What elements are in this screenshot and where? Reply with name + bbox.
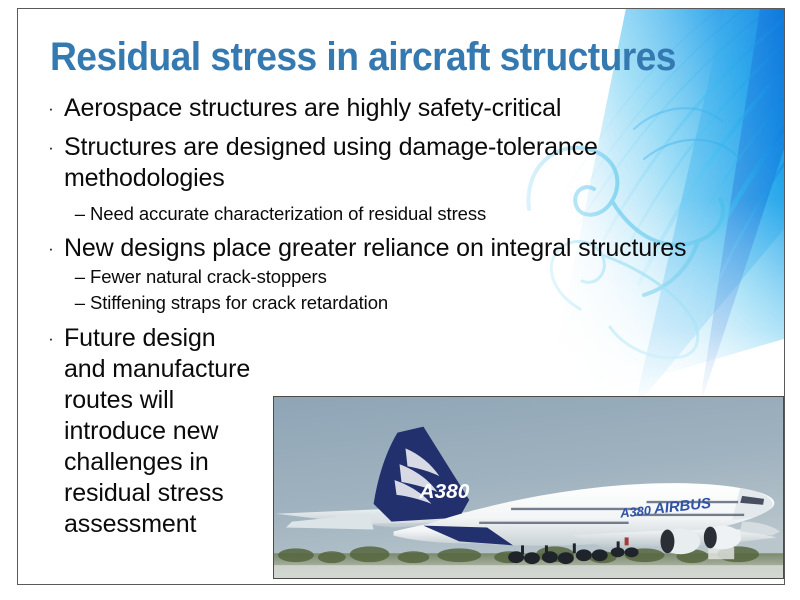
bullet-text: challenges in	[64, 447, 288, 478]
sub-bullet-text: Need accurate characterization of residu…	[90, 201, 764, 227]
sub-bullet-item: – Need accurate characterization of resi…	[38, 201, 764, 227]
bullet-item-continuation: and manufacture	[38, 354, 288, 385]
bullet-text: Future design	[64, 323, 288, 354]
bullet-item-continuation: routes will	[38, 385, 288, 416]
bullet-item: · Aerospace structures are highly safety…	[38, 93, 764, 124]
spacer	[38, 124, 764, 132]
spacer	[38, 194, 764, 201]
bullet-text: and manufacture	[64, 354, 288, 385]
sub-bullet-item: – Stiffening straps for crack retardatio…	[38, 290, 764, 316]
bullet-item-continuation: methodologies	[38, 163, 764, 194]
sub-bullet-text: Stiffening straps for crack retardation	[90, 290, 764, 316]
sub-bullet-item: – Fewer natural crack-stoppers	[38, 264, 764, 290]
bullet-text: methodologies	[64, 163, 764, 194]
bullet-marker: ·	[38, 132, 64, 163]
bullet-item-continuation: residual stress	[38, 478, 288, 509]
dash-marker: –	[38, 201, 90, 227]
slide-title: Residual stress in aircraft structures	[50, 33, 701, 81]
aircraft-photo: A380 A380 AIRBUS	[273, 396, 784, 579]
bullet-marker: ·	[38, 233, 64, 264]
sub-bullet-text: Fewer natural crack-stoppers	[90, 264, 764, 290]
bullet-text: assessment	[64, 509, 288, 540]
bullet-item: · New designs place greater reliance on …	[38, 233, 764, 264]
bullet-marker: ·	[38, 93, 64, 124]
spacer	[38, 316, 764, 323]
bullet-item: · Future design	[38, 323, 288, 354]
dash-marker: –	[38, 264, 90, 290]
bullet-text: routes will	[64, 385, 288, 416]
bullet-item: · Structures are designed using damage-t…	[38, 132, 764, 163]
bullet-text: Aerospace structures are highly safety-c…	[64, 93, 764, 124]
bullet-text: Structures are designed using damage-tol…	[64, 132, 764, 163]
tail-registration-text: A380	[418, 480, 469, 503]
bullet-text: residual stress	[64, 478, 288, 509]
bullet-item-continuation: challenges in	[38, 447, 288, 478]
bullet-marker: ·	[38, 323, 64, 354]
dash-marker: –	[38, 290, 90, 316]
bullet-text: New designs place greater reliance on in…	[64, 233, 764, 264]
presentation-slide: Residual stress in aircraft structures ·…	[17, 8, 785, 585]
bullet-item-continuation: introduce new	[38, 416, 288, 447]
bullet-item-continuation: assessment	[38, 509, 288, 540]
bullet-text: introduce new	[64, 416, 288, 447]
